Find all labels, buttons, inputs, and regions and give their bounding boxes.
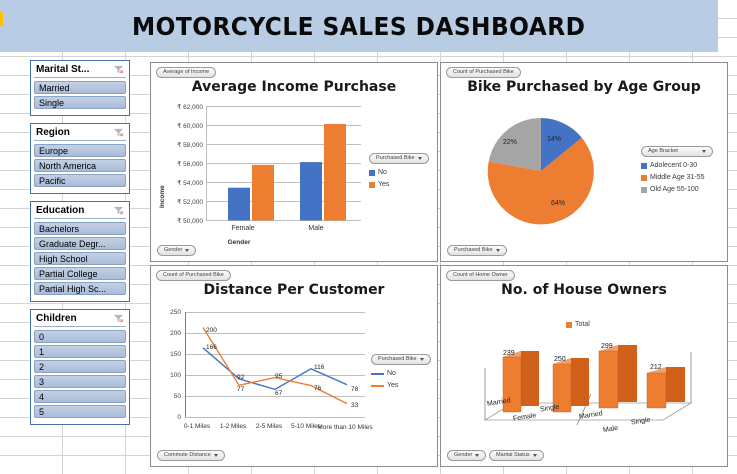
legend-entry-middle-age: Middle Age 31-55 — [641, 174, 713, 181]
slicer-item-children-4[interactable]: 4 — [34, 390, 126, 403]
chevron-down-icon — [475, 454, 479, 457]
chart-panel-average-income-purchase[interactable]: Average of Income Average Income Purchas… — [150, 62, 438, 262]
field-button-label: Age Bracket — [648, 147, 678, 156]
legend-entry-adolecent: Adolecent 0-30 — [641, 162, 713, 169]
field-button-label: Purchased Bike — [376, 154, 415, 163]
legend-label: Old Age 55-100 — [650, 186, 699, 193]
legend-label: No — [387, 370, 396, 377]
chart-panel-no-of-house-owners[interactable]: Count of Home Owner No. of House Owners … — [440, 265, 728, 467]
slicer-item-partial-high-school[interactable]: Partial High Sc... — [34, 282, 126, 295]
field-button-label: Count of Purchased Bike — [453, 68, 514, 77]
chevron-down-icon — [702, 150, 706, 153]
pie-data-label-22: 22% — [503, 139, 517, 146]
chevron-down-icon — [420, 358, 424, 361]
slicer-item-children-5[interactable]: 5 — [34, 405, 126, 418]
legend-entry-yes: Yes — [369, 181, 429, 188]
chevron-down-icon — [214, 454, 218, 457]
pie-chart — [486, 116, 596, 226]
bar-male-no — [300, 162, 322, 220]
bar-female-yes — [252, 165, 274, 221]
bar-female-no — [228, 188, 250, 221]
row-marker — [0, 12, 3, 26]
field-button-label: Purchased Bike — [454, 246, 493, 255]
income-plot-area — [206, 106, 361, 223]
data-label-212: 212 — [650, 364, 662, 371]
y-tick-60000: ₹ 60,000 — [157, 122, 203, 130]
slicer-header: Education — [34, 204, 126, 219]
y-tick-100: 100 — [153, 372, 181, 379]
bar-male-married — [599, 345, 637, 408]
chevron-down-icon — [418, 157, 422, 160]
slicer-title: Region — [36, 127, 70, 138]
pie-data-label-64: 64% — [551, 200, 565, 207]
dashboard-title-banner: MOTORCYCLE SALES DASHBOARD — [0, 0, 718, 52]
pivot-field-button-age-bracket[interactable]: Age Bracket — [641, 146, 713, 157]
legend-entry-yes: Yes — [371, 382, 431, 389]
data-label-yes-33: 33 — [351, 402, 358, 409]
pie-data-label-14: 14% — [547, 136, 561, 143]
field-button-label: Marital Status — [496, 451, 530, 460]
data-label-no-67: 67 — [275, 390, 282, 397]
clear-filter-icon[interactable] — [113, 314, 124, 323]
clear-filter-icon[interactable] — [113, 128, 124, 137]
pivot-field-button-purchased-bike[interactable]: Purchased Bike — [371, 354, 431, 365]
slicer-item-single[interactable]: Single — [34, 96, 126, 109]
chart-title: Average Income Purchase — [151, 79, 437, 95]
legend-label: Adolecent 0-30 — [650, 162, 697, 169]
data-label-299: 299 — [601, 343, 613, 350]
x-tick-male: Male — [286, 225, 346, 232]
chart-legend: Purchased Bike No Yes — [369, 153, 429, 188]
x-tick-more-than-10-miles: More than 10 Miles — [317, 423, 373, 433]
pivot-field-button-marital-status[interactable]: Marital Status — [489, 450, 544, 461]
legend-label: No — [378, 169, 387, 176]
legend-entry-no: No — [371, 370, 431, 377]
field-button-label: Gender — [164, 246, 182, 255]
slicer-education[interactable]: Education Bachelors Graduate Degr... Hig… — [30, 201, 130, 302]
chart-title: Bike Purchased by Age Group — [441, 79, 727, 95]
data-label-no-166: 166 — [206, 344, 217, 351]
chart-legend: Purchased Bike No Yes — [371, 354, 431, 389]
legend-label: Middle Age 31-55 — [650, 174, 704, 181]
y-tick-54000: ₹ 54,000 — [157, 179, 203, 187]
slicer-panel: Marital St... Married Single Region Euro… — [30, 60, 130, 432]
slicer-region[interactable]: Region Europe North America Pacific — [30, 123, 130, 194]
slicer-children[interactable]: Children 0 1 2 3 4 5 — [30, 309, 130, 425]
field-button-label: Count of Purchased Bike — [163, 271, 224, 280]
y-tick-56000: ₹ 56,000 — [157, 160, 203, 168]
bar-male-yes — [324, 124, 346, 221]
pivot-field-button-average-of-income[interactable]: Average of Income — [156, 67, 216, 78]
slicer-title: Education — [36, 205, 84, 216]
slicer-item-children-1[interactable]: 1 — [34, 345, 126, 358]
legend-swatch — [369, 182, 375, 188]
slicer-marital-status[interactable]: Marital St... Married Single — [30, 60, 130, 116]
page-title: MOTORCYCLE SALES DASHBOARD — [132, 12, 585, 41]
y-tick-50000: ₹ 50,000 — [157, 217, 203, 225]
y-tick-0: 0 — [153, 414, 181, 421]
chart-title: No. of House Owners — [441, 282, 727, 298]
pivot-field-button-count-of-home-owner[interactable]: Count of Home Owner — [446, 270, 515, 281]
slicer-title: Children — [36, 313, 77, 324]
chart-legend: Age Bracket Adolecent 0-30 Middle Age 31… — [641, 146, 713, 193]
slicer-title: Marital St... — [36, 64, 89, 75]
field-button-label: Average of Income — [163, 68, 209, 77]
slicer-item-married[interactable]: Married — [34, 81, 126, 94]
legend-swatch — [641, 187, 647, 193]
data-label-no-78: 78 — [351, 386, 358, 393]
legend-label: Total — [575, 321, 590, 328]
legend-swatch — [641, 175, 647, 181]
slicer-item-bachelors[interactable]: Bachelors — [34, 222, 126, 235]
clear-filter-icon[interactable] — [113, 206, 124, 215]
slicer-header: Marital St... — [34, 63, 126, 78]
data-label-239: 239 — [503, 350, 515, 357]
pivot-field-button-purchased-bike[interactable]: Purchased Bike — [447, 245, 507, 256]
legend-line — [371, 385, 384, 387]
x-tick-female: Female — [213, 225, 273, 232]
data-label-yes-200: 200 — [206, 327, 217, 334]
legend-label: Yes — [387, 382, 398, 389]
house-owners-plot-area — [475, 328, 705, 443]
legend-swatch — [566, 322, 572, 328]
x-axis-label: Gender — [96, 239, 382, 246]
legend-entry-total: Total — [566, 321, 590, 328]
slicer-header: Region — [34, 126, 126, 141]
legend-swatch — [641, 163, 647, 169]
y-tick-250: 250 — [153, 309, 181, 316]
y-tick-50: 50 — [153, 393, 181, 400]
slicer-item-children-3[interactable]: 3 — [34, 375, 126, 388]
slicer-item-high-school[interactable]: High School — [34, 252, 126, 265]
legend-entry-no: No — [369, 169, 429, 176]
field-button-label: Purchased Bike — [378, 355, 417, 364]
legend-label: Yes — [378, 181, 389, 188]
chevron-down-icon — [533, 454, 537, 457]
data-label-yes-95: 95 — [275, 373, 282, 380]
slicer-item-pacific[interactable]: Pacific — [34, 174, 126, 187]
pivot-field-button-count-of-purchased-bike[interactable]: Count of Purchased Bike — [156, 270, 231, 281]
data-label-no-92: 92 — [237, 374, 244, 381]
pivot-field-button-count-of-purchased-bike[interactable]: Count of Purchased Bike — [446, 67, 521, 78]
y-tick-58000: ₹ 58,000 — [157, 141, 203, 149]
legend-swatch — [369, 170, 375, 176]
slicer-item-children-2[interactable]: 2 — [34, 360, 126, 373]
data-label-yes-77: 77 — [237, 386, 244, 393]
legend-line — [371, 373, 384, 375]
field-button-label: Commute Distance — [164, 451, 211, 460]
chart-panel-distance-per-customer[interactable]: Count of Purchased Bike Distance Per Cus… — [150, 265, 438, 467]
chart-title: Distance Per Customer — [151, 282, 437, 298]
chevron-down-icon — [185, 249, 189, 252]
slicer-item-partial-college[interactable]: Partial College — [34, 267, 126, 280]
field-button-label: Gender — [454, 451, 472, 460]
clear-filter-icon[interactable] — [113, 65, 124, 74]
y-tick-62000: ₹ 62,000 — [157, 103, 203, 111]
slicer-header: Children — [34, 312, 126, 327]
data-label-no-116: 116 — [314, 364, 324, 371]
chevron-down-icon — [496, 249, 500, 252]
pivot-field-button-gender[interactable]: Gender — [157, 245, 196, 256]
y-tick-52000: ₹ 52,000 — [157, 198, 203, 206]
y-tick-150: 150 — [153, 351, 181, 358]
pivot-field-button-gender[interactable]: Gender — [447, 450, 486, 461]
data-label-yes-76: 76 — [314, 385, 321, 392]
slicer-item-europe[interactable]: Europe — [34, 144, 126, 157]
legend-entry-old-age: Old Age 55-100 — [641, 186, 713, 193]
data-label-250: 250 — [554, 356, 566, 363]
pivot-field-button-purchased-bike[interactable]: Purchased Bike — [369, 153, 429, 164]
y-tick-200: 200 — [153, 330, 181, 337]
bar-male-single — [647, 367, 685, 408]
chart-panel-bike-purchased-by-age-group[interactable]: Count of Purchased Bike Bike Purchased b… — [440, 62, 728, 262]
field-button-label: Count of Home Owner — [453, 271, 508, 280]
slicer-item-north-america[interactable]: North America — [34, 159, 126, 172]
pivot-field-button-commute-distance[interactable]: Commute Distance — [157, 450, 225, 461]
slicer-item-children-0[interactable]: 0 — [34, 330, 126, 343]
